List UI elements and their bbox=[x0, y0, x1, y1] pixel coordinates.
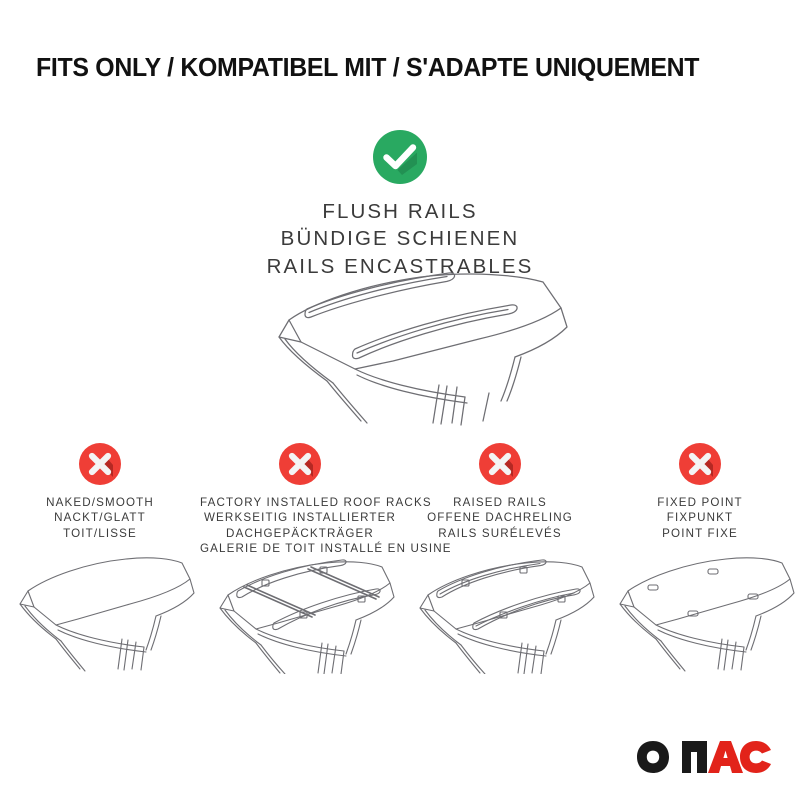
option-label: NAKED/SMOOTH NACKT/GLATT TOIT/LISSE bbox=[0, 495, 200, 541]
label-line: OFFENE DACHRELING bbox=[400, 510, 600, 525]
label-line: FIXED POINT bbox=[600, 495, 800, 510]
label-line: FLUSH RAILS bbox=[0, 198, 800, 225]
label-line: WERKSEITIG INSTALLIERTER bbox=[200, 510, 400, 525]
car-roof-factory-racks-illustration bbox=[200, 549, 400, 674]
page-title: FITS ONLY / KOMPATIBEL MIT / S'ADAPTE UN… bbox=[36, 54, 758, 83]
option-label: FIXED POINT FIXPUNKT POINT FIXE bbox=[600, 495, 800, 541]
cross-circle-icon bbox=[279, 443, 321, 485]
option-label: FACTORY INSTALLED ROOF RACKS WERKSEITIG … bbox=[200, 495, 400, 556]
label-line: NACKT/GLATT bbox=[0, 510, 200, 525]
incompatible-option-factory-roof-racks: FACTORY INSTALLED ROOF RACKS WERKSEITIG … bbox=[200, 443, 400, 556]
label-line: BÜNDIGE SCHIENEN bbox=[0, 225, 800, 252]
label-line: RAISED RAILS bbox=[400, 495, 600, 510]
logo-letter-m bbox=[672, 741, 707, 773]
logo-letter-o bbox=[637, 741, 669, 773]
check-circle-icon bbox=[373, 130, 427, 184]
incompatible-option-naked-smooth: NAKED/SMOOTH NACKT/GLATT TOIT/LISSE bbox=[0, 443, 200, 541]
label-line: DACHGEPÄCKTRÄGER bbox=[200, 526, 400, 541]
incompatible-option-fixed-point: FIXED POINT FIXPUNKT POINT FIXE bbox=[600, 443, 800, 541]
label-line: RAILS SURÉLEVÉS bbox=[400, 526, 600, 541]
car-roof-fixed-point-illustration bbox=[600, 549, 800, 674]
label-line: NAKED/SMOOTH bbox=[0, 495, 200, 510]
compatible-option-flush-rails: FLUSH RAILS BÜNDIGE SCHIENEN RAILS ENCAS… bbox=[0, 130, 800, 280]
car-roof-naked-smooth-illustration bbox=[0, 549, 200, 674]
incompatible-option-raised-rails: RAISED RAILS OFFENE DACHRELING RAILS SUR… bbox=[400, 443, 600, 541]
cross-circle-icon bbox=[79, 443, 121, 485]
car-roof-flush-rails-illustration bbox=[243, 265, 583, 435]
logo-letter-c bbox=[740, 741, 771, 773]
label-line: POINT FIXE bbox=[600, 526, 800, 541]
omac-logo bbox=[636, 740, 772, 774]
label-line: FACTORY INSTALLED ROOF RACKS bbox=[200, 495, 400, 510]
incompatible-options-row: NAKED/SMOOTH NACKT/GLATT TOIT/LISSE bbox=[0, 443, 800, 556]
label-line: TOIT/LISSE bbox=[0, 526, 200, 541]
option-label: RAISED RAILS OFFENE DACHRELING RAILS SUR… bbox=[400, 495, 600, 541]
cross-circle-icon bbox=[479, 443, 521, 485]
logo-letter-a bbox=[708, 741, 743, 773]
car-roof-raised-rails-illustration bbox=[400, 549, 600, 674]
cross-circle-icon bbox=[679, 443, 721, 485]
label-line: FIXPUNKT bbox=[600, 510, 800, 525]
